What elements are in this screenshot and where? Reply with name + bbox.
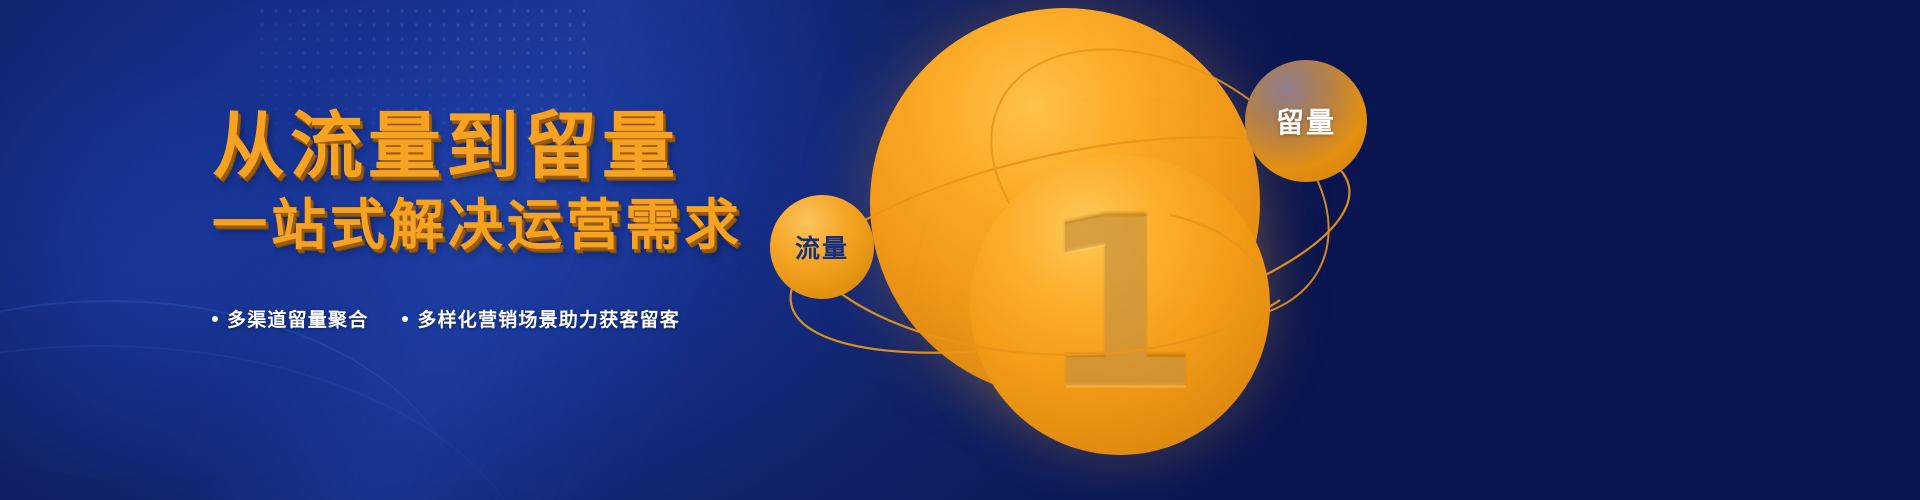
sphere-label-liuliang-retain-text: 留量 [1276, 101, 1336, 141]
bullet-dot-icon [402, 316, 408, 322]
headline-line-1: 从流量到留量 [212, 105, 772, 189]
feature-bullet-1: 多渠道留量聚合 [212, 305, 368, 332]
feature-bullet-2: 多样化营销场景助力获客留客 [402, 305, 680, 332]
feature-bullet-list: 多渠道留量聚合 多样化营销场景助力获客留客 [212, 305, 772, 332]
feature-bullet-1-label: 多渠道留量聚合 [227, 305, 368, 332]
banner-illustration: 1 流量 留量 [740, 0, 1920, 500]
numeral-one: 1 [970, 188, 1270, 423]
background-arc-secondary [0, 345, 530, 500]
sphere-label-liuliang: 流量 [770, 195, 874, 299]
bullet-dot-icon [212, 316, 218, 322]
sphere-label-liuliang-retain: 留量 [1245, 60, 1367, 182]
headline-line-2: 一站式解决运营需求 [212, 189, 772, 261]
sphere-label-liuliang-text: 流量 [795, 229, 849, 265]
banner-copy: 从流量到留量 一站式解决运营需求 多渠道留量聚合 多样化营销场景助力获客留客 [212, 105, 772, 332]
feature-bullet-2-label: 多样化营销场景助力获客留客 [417, 305, 680, 332]
promo-banner: 从流量到留量 一站式解决运营需求 多渠道留量聚合 多样化营销场景助力获客留客 1 [0, 0, 1920, 500]
sphere-foreground-numeral: 1 [970, 155, 1270, 455]
